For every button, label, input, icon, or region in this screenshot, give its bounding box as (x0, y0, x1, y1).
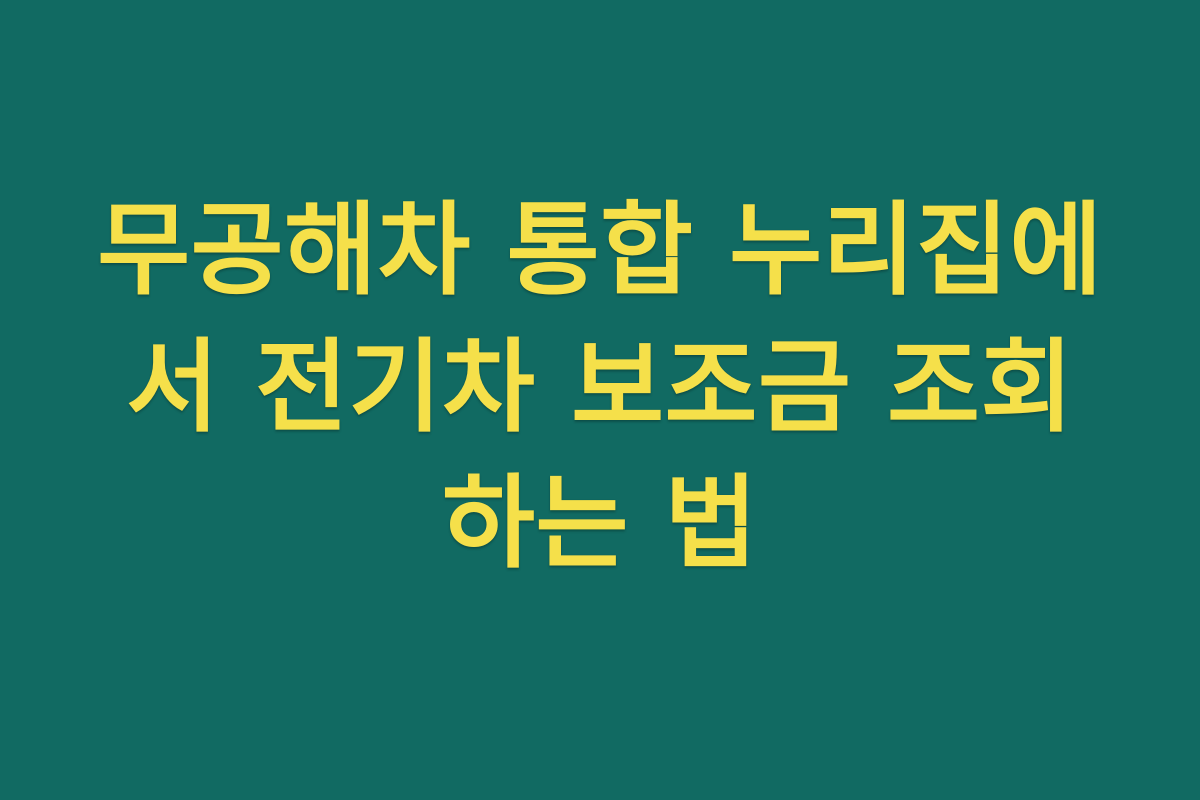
title-block: 무공해차 통합 누리집에서 전기차 보조금 조회하는 법 (95, 182, 1105, 593)
page-title: 무공해차 통합 누리집에서 전기차 보조금 조회하는 법 (95, 182, 1105, 593)
thumbnail-canvas: 무공해차 통합 누리집에서 전기차 보조금 조회하는 법 (0, 0, 1200, 800)
